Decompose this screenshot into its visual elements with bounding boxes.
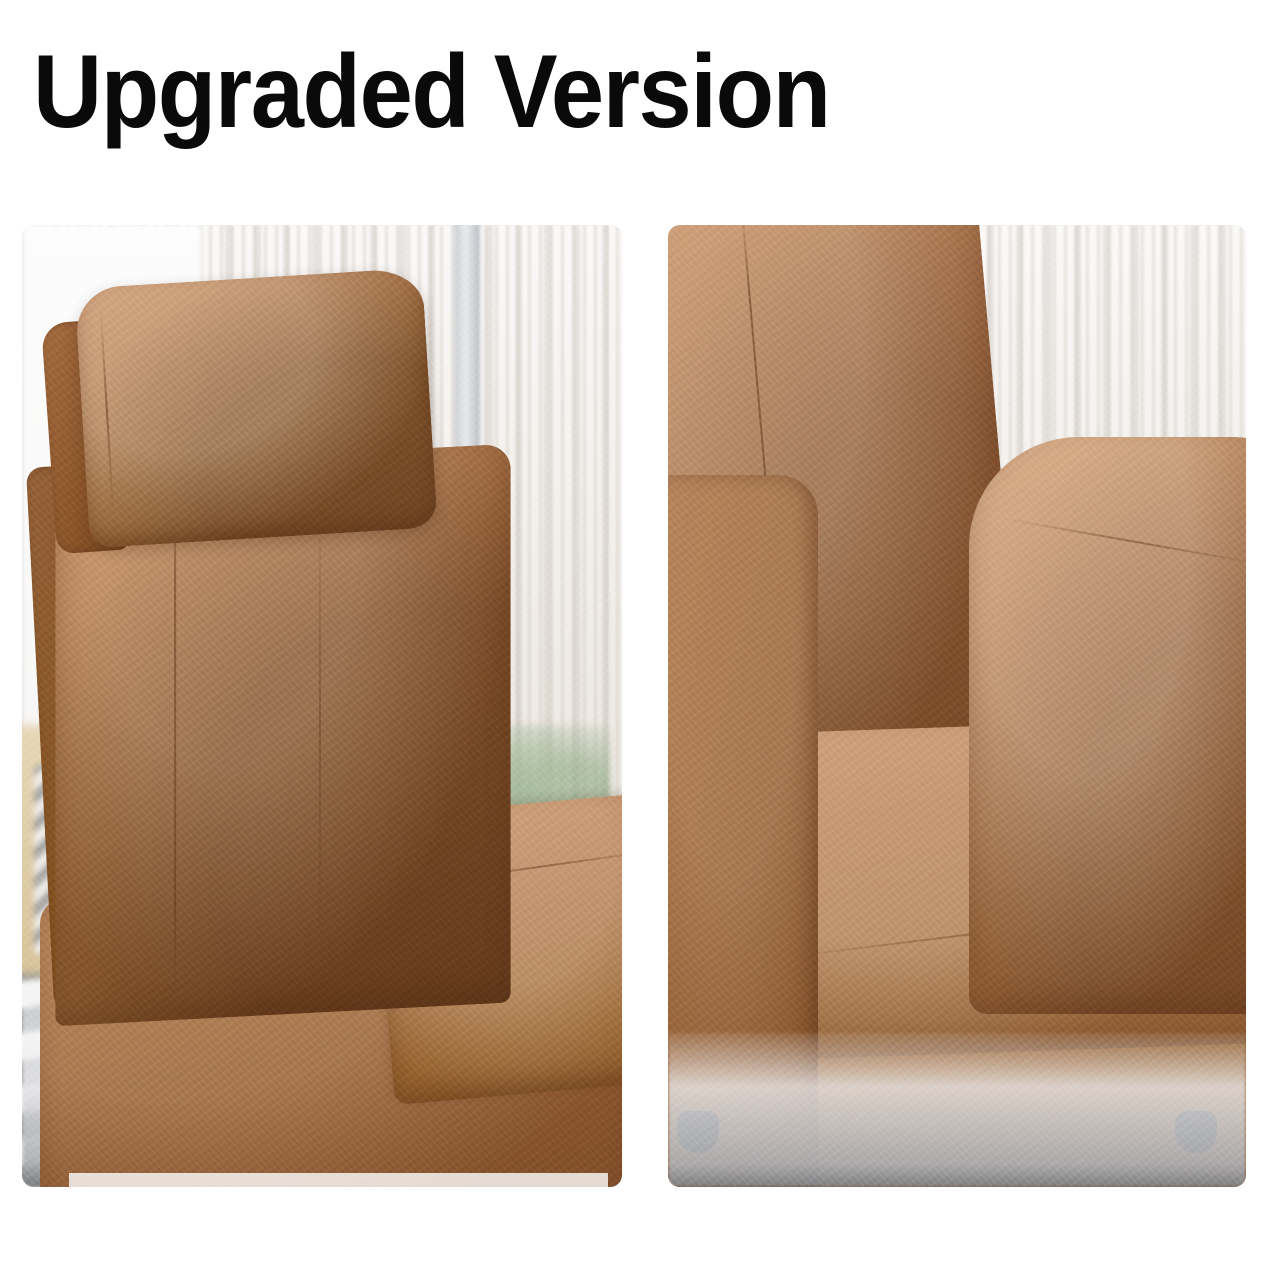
product-photo-cushion: [668, 225, 1246, 1187]
feature-panel-backrest: Updated Backrest Thicker recliner backre…: [22, 225, 622, 1187]
product-photo-backrest: [22, 225, 622, 1187]
backrest-seam-right: [319, 487, 321, 968]
floor-shadow: [668, 1033, 1246, 1187]
caption-backrest: Updated Backrest Thicker recliner backre…: [69, 1173, 608, 1187]
backrest-seam-left: [174, 483, 176, 997]
armrest-seam: [1004, 517, 1246, 566]
headrest-seam: [100, 310, 114, 512]
page-title: Upgraded Version: [33, 40, 830, 144]
feature-panel-cushion: Comfortable Cushion Wider cushion perfec…: [668, 225, 1246, 1187]
chair-headrest: [74, 268, 437, 548]
chair-armrest-right: [969, 437, 1246, 1014]
